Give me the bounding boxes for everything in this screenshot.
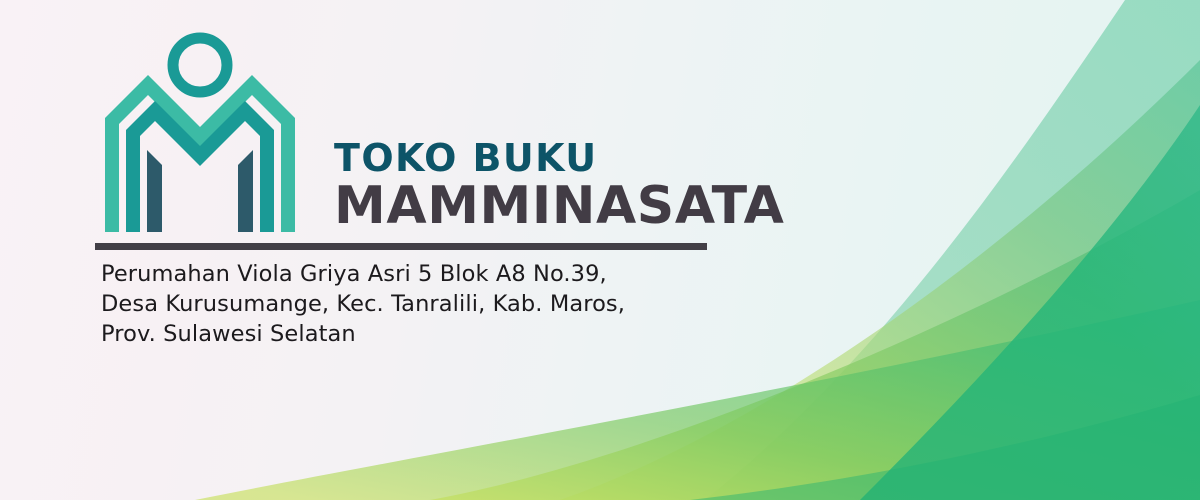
mamminasata-logo — [100, 26, 300, 236]
brand-subtitle: TOKO BUKU — [334, 136, 785, 180]
address-line-2: Desa Kurusumange, Kec. Tanralili, Kab. M… — [101, 289, 625, 319]
circle-head-icon — [173, 38, 227, 92]
store-banner: TOKO BUKU MAMMINASATA Perumahan Viola Gr… — [0, 0, 1200, 500]
wordmark: TOKO BUKU MAMMINASATA — [334, 136, 785, 235]
store-address: Perumahan Viola Griya Asri 5 Blok A8 No.… — [101, 259, 625, 349]
wave-shape-light — [560, 60, 1200, 500]
address-line-1: Perumahan Viola Griya Asri 5 Blok A8 No.… — [101, 259, 625, 289]
wave-shape-emerald — [860, 105, 1200, 500]
logo-inner-right-leg — [238, 150, 253, 232]
divider-rule — [95, 243, 707, 250]
wave-shape-mint — [705, 0, 1200, 500]
wave-shape-emerald-low — [690, 395, 1200, 500]
address-line-3: Prov. Sulawesi Selatan — [101, 319, 625, 349]
brand-title: MAMMINASATA — [334, 177, 785, 235]
logo-inner-left-leg — [147, 150, 162, 232]
